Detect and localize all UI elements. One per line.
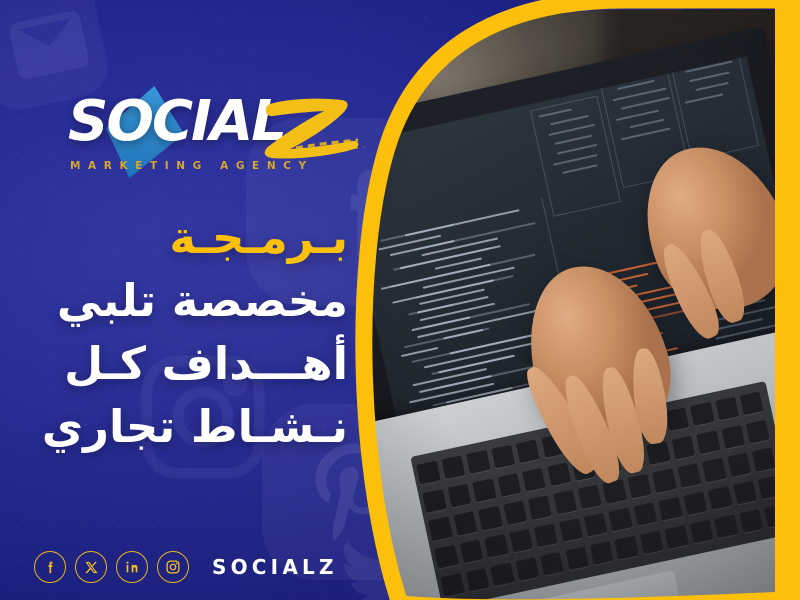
x-twitter-icon[interactable] — [75, 551, 107, 583]
logo-wordmark: SOCIAL — [68, 94, 285, 150]
linkedin-icon[interactable] — [116, 551, 148, 583]
logo-tagline: MARKETING AGENCY — [70, 160, 314, 172]
laptop-photo — [352, 0, 800, 600]
headline-line-1: بـرمـجـة — [18, 206, 348, 269]
headline-line-2: مخصصة تلبي — [18, 269, 348, 332]
footer: SOCIALZ — [34, 551, 338, 583]
headline: بـرمـجـة مخصصة تلبي أهـــداف كـل نـشـاط … — [18, 206, 348, 458]
social-media-poster: SOCIAL MARKETING AGENCY بـرمـجـة مخصصة ت… — [0, 0, 800, 600]
logo: SOCIAL MARKETING AGENCY — [62, 80, 352, 188]
instagram-icon[interactable] — [157, 551, 189, 583]
logo-brush-z-icon — [260, 92, 368, 164]
headline-line-3: أهـــداف كـل — [18, 332, 348, 395]
headline-line-4: نـشـاط تجاري — [18, 395, 348, 458]
facebook-icon[interactable] — [34, 551, 66, 583]
footer-brand: SOCIALZ — [212, 555, 338, 579]
